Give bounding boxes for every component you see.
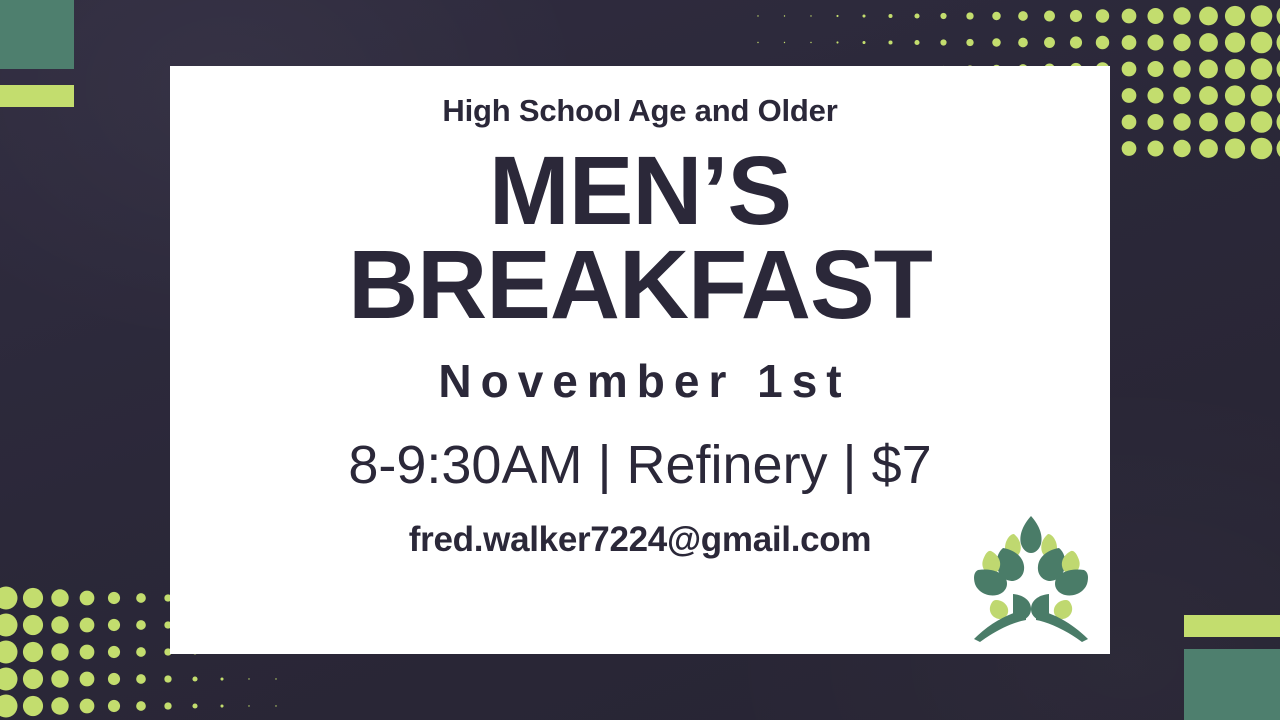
eyebrow-text: High School Age and Older (442, 94, 837, 128)
title-line-1: MEN’S (489, 136, 791, 245)
decor-block-teal-top-left (0, 0, 74, 69)
event-details: 8-9:30AM | Refinery | $7 (348, 434, 931, 496)
tree-base-arcs (974, 610, 1088, 642)
title-line-2: BREAKFAST (348, 238, 932, 332)
page-title: MEN’S BREAKFAST (348, 144, 932, 332)
decor-block-teal-bottom-right (1184, 649, 1280, 720)
flyer-canvas: High School Age and Older MEN’S BREAKFAS… (0, 0, 1280, 720)
tree-leaves (974, 516, 1088, 621)
decor-block-lime-bottom-right (1184, 615, 1280, 637)
decor-block-lime-top-left (0, 85, 74, 107)
event-date: November 1st (429, 354, 850, 408)
contact-email[interactable]: fred.walker7224@gmail.com (409, 520, 871, 560)
flyer-card: High School Age and Older MEN’S BREAKFAS… (170, 66, 1110, 654)
flyer-card-content: High School Age and Older MEN’S BREAKFAS… (170, 66, 1110, 654)
tree-logo-icon (970, 508, 1092, 646)
